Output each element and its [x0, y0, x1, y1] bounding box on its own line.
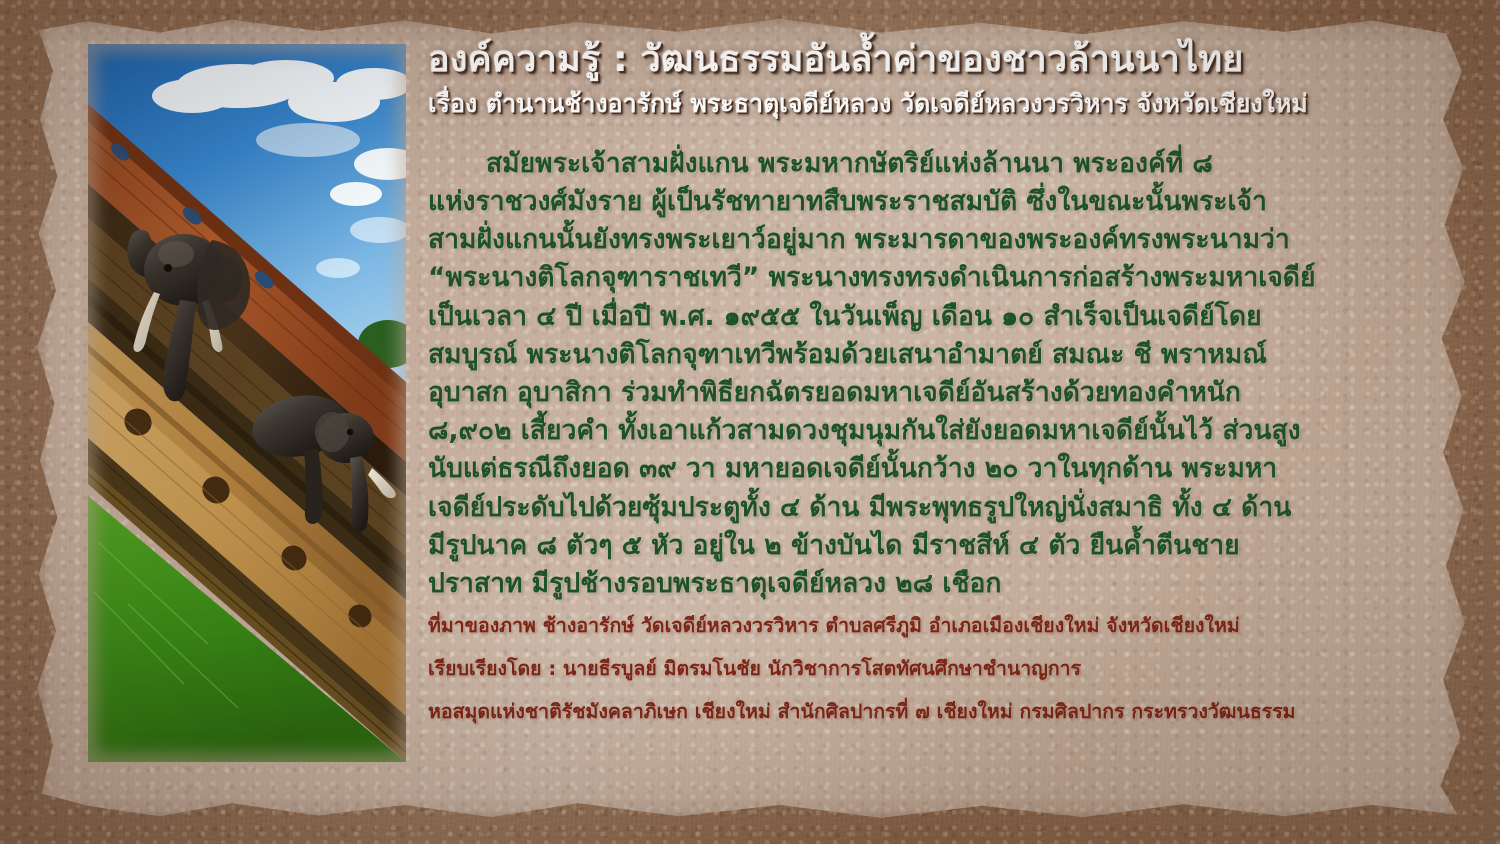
- body-line: ๘,๙๐๒ เสี้ยวคำ ทั้งเอาแก้วสามดวงชุมนุมกั…: [428, 412, 1448, 450]
- temple-photograph: [88, 44, 406, 762]
- body-line: เป็นเวลา ๔ ปี เมื่อปี พ.ศ. ๑๙๕๕ ในวันเพ็…: [428, 298, 1448, 336]
- credit-author: เรียบเรียงโดย : นายธีรบูลย์ มิตรมโนชัย น…: [428, 658, 1448, 679]
- temple-photo-illustration: [88, 44, 406, 762]
- body-line: นับแต่ธรณีถึงยอด ๓๙ วา มหายอดเจดีย์นั้นก…: [428, 450, 1448, 488]
- body-line: มีรูปนาค ๘ ตัวๆ ๕ หัว อยู่ใน ๒ ข้างบันได…: [428, 527, 1448, 565]
- body-line: “พระนางติโลกจุฑาราชเทวี” พระนางทรงทรงดำเ…: [428, 259, 1448, 297]
- page-subtitle: เรื่อง ตำนานช้างอารักษ์ พระธาตุเจดีย์หลว…: [428, 89, 1448, 119]
- credit-photo-source: ที่มาของภาพ ช้างอารักษ์ วัดเจดีย์หลวงวรว…: [428, 615, 1448, 636]
- body-line: อุบาสก อุบาสิกา ร่วมทำพิธียกฉัตรยอดมหาเจ…: [428, 374, 1448, 412]
- body-line: สมัยพระเจ้าสามฝั่งแกน พระมหากษัตริย์แห่ง…: [428, 145, 1448, 183]
- photo-image: [88, 44, 406, 762]
- page-title: องค์ความรู้ : วัฒนธรรมอันล้ำค่าของชาวล้า…: [428, 40, 1448, 80]
- article-body: สมัยพระเจ้าสามฝั่งแกน พระมหากษัตริย์แห่ง…: [428, 145, 1448, 603]
- credit-organization: หอสมุดแห่งชาติรัชมังคลาภิเษก เชียงใหม่ ส…: [428, 701, 1448, 722]
- credits-block: ที่มาของภาพ ช้างอารักษ์ วัดเจดีย์หลวงวรว…: [428, 615, 1448, 722]
- body-line: ปราสาท มีรูปช้างรอบพระธาตุเจดีย์หลวง ๒๘ …: [428, 565, 1448, 603]
- content-column: องค์ความรู้ : วัฒนธรรมอันล้ำค่าของชาวล้า…: [428, 40, 1448, 810]
- body-line: สมบูรณ์ พระนางติโลกจุฑาเทวีพร้อมด้วยเสนา…: [428, 336, 1448, 374]
- body-line: แห่งราชวงศ์มังราย ผู้เป็นรัชทายาทสืบพระร…: [428, 183, 1448, 221]
- poster-root: องค์ความรู้ : วัฒนธรรมอันล้ำค่าของชาวล้า…: [0, 0, 1500, 844]
- body-line: เจดีย์ประดับไปด้วยซุ้มประตูทั้ง ๔ ด้าน ม…: [428, 489, 1448, 527]
- body-line: สามฝั่งแกนนั้นยังทรงพระเยาว์อยู่มาก พระม…: [428, 221, 1448, 259]
